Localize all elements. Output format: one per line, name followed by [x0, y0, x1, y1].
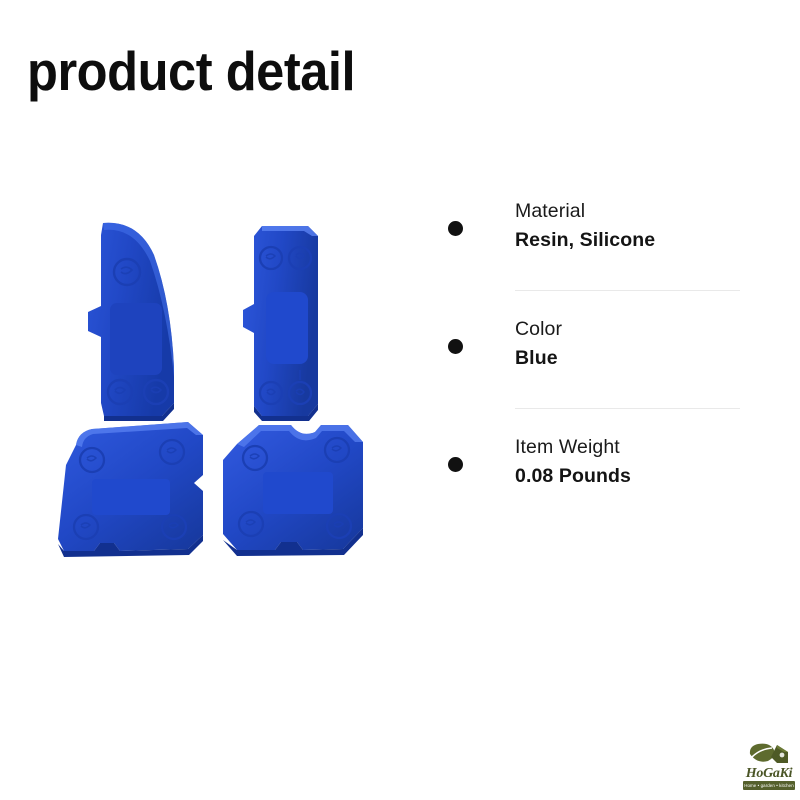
spec-label: Material: [515, 198, 740, 225]
spec-value: Blue: [515, 344, 740, 372]
spec-row-item-weight: Item Weight 0.08 Pounds: [440, 421, 740, 501]
divider: [515, 408, 740, 409]
spec-label: Item Weight: [515, 434, 740, 461]
spec-value: 0.08 Pounds: [515, 462, 740, 490]
brand-tagline: Home • garden • kitchen: [743, 781, 795, 790]
specification-list: Material Resin, Silicone Color Blue Item…: [440, 185, 740, 501]
brand-logo: HoGaKi Home • garden • kitchen: [742, 741, 796, 793]
bullet-icon: [448, 339, 463, 354]
product-piece-wide-angled-scraper: [215, 408, 380, 566]
product-piece-curved-wedge-scraper: [68, 217, 193, 422]
bullet-icon: [448, 221, 463, 236]
product-image: [30, 200, 410, 600]
brand-name: HoGaKi: [742, 766, 796, 781]
spec-value: Resin, Silicone: [515, 226, 740, 254]
spec-row-material: Material Resin, Silicone: [440, 185, 740, 303]
product-piece-narrow-rectangular-scraper: [240, 218, 335, 423]
bullet-icon: [448, 457, 463, 472]
page-title: product detail: [27, 40, 355, 102]
product-piece-wide-corner-scraper: [48, 417, 223, 567]
spec-label: Color: [515, 316, 740, 343]
divider: [515, 290, 740, 291]
spec-row-color: Color Blue: [440, 303, 740, 421]
leaf-and-house-icon: [746, 741, 792, 767]
